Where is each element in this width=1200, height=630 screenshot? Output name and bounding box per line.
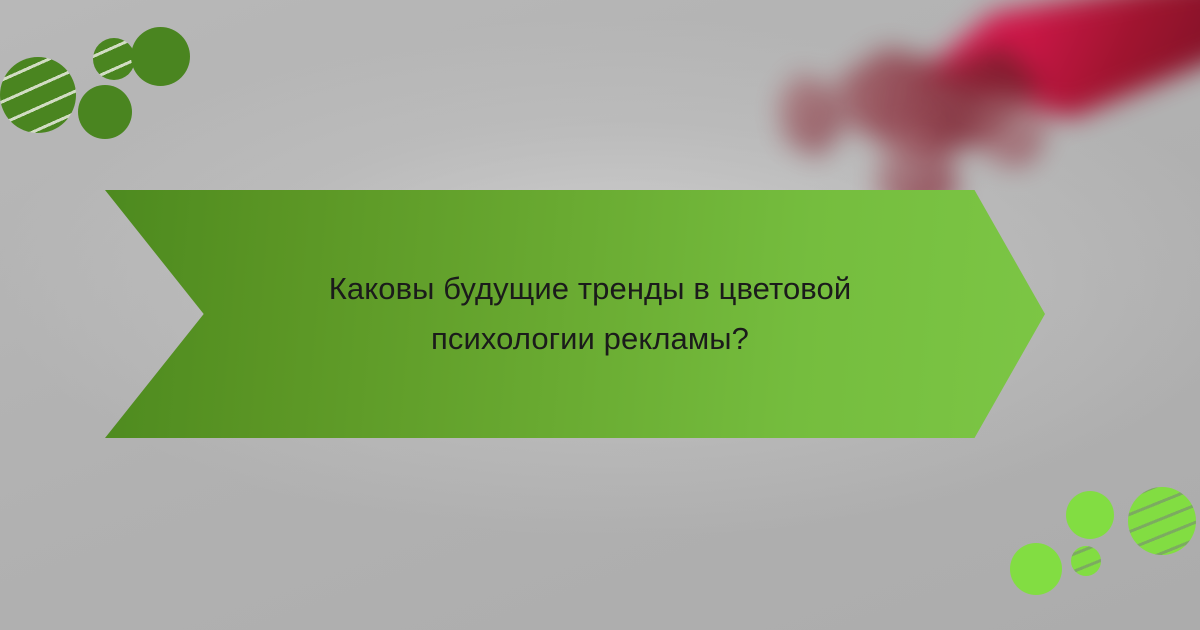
decor-circle-br-plain bbox=[1010, 543, 1062, 595]
decor-circle-br-medium-plain bbox=[1066, 491, 1114, 539]
decor-circle-br-large-striped bbox=[1128, 487, 1196, 555]
decor-circle-br-small-striped bbox=[1071, 546, 1101, 576]
slide-canvas: Каковы будущие тренды в цветовой психоло… bbox=[0, 0, 1200, 630]
decor-cluster-bottom-right bbox=[0, 0, 1200, 630]
